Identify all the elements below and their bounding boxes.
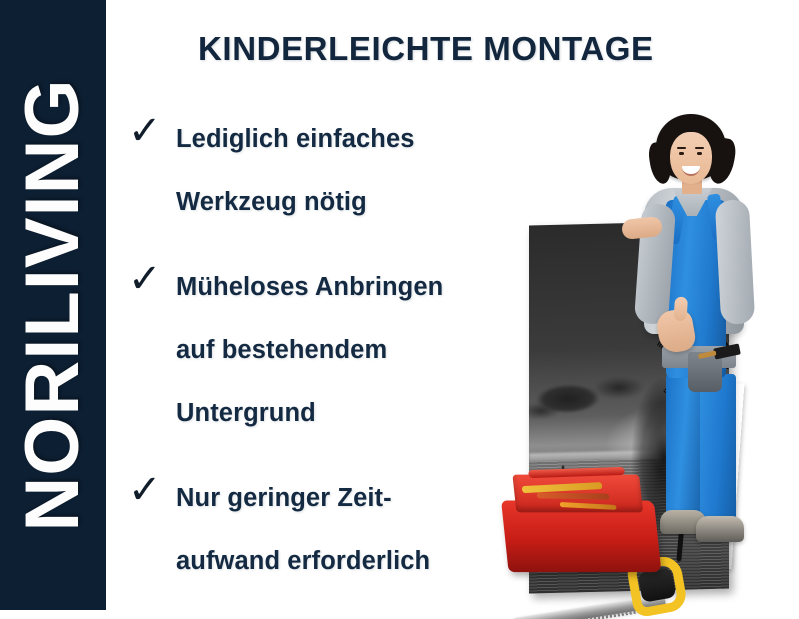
check-icon: ✓ <box>128 473 168 511</box>
product-photo <box>498 96 799 619</box>
feature-list: ✓ Lediglich einfaches Werkzeug nötig ✓ M… <box>128 108 518 615</box>
eyebrow-left <box>677 147 686 149</box>
trouser-leg-right <box>700 374 736 524</box>
list-item-line: Lediglich einfaches <box>176 108 518 171</box>
face <box>670 132 712 184</box>
list-item-line: Nur geringer Zeit- <box>176 467 518 530</box>
list-item-text: Müheloses Anbringen auf bestehendem Unte… <box>176 256 518 445</box>
list-item-text: Lediglich einfaches Werkzeug nötig <box>176 108 518 234</box>
brand-name: NORILIVING <box>15 78 91 531</box>
list-item-line: aufwand erforderlich <box>176 530 518 593</box>
list-item-line: Müheloses Anbringen <box>176 256 518 319</box>
shoe-right <box>696 516 744 542</box>
smiling-mouth <box>682 166 700 176</box>
list-item: ✓ Müheloses Anbringen auf bestehendem Un… <box>128 256 518 445</box>
eyebrow-right <box>695 147 704 149</box>
red-toolbox <box>498 456 670 592</box>
tool-wrench <box>536 492 609 499</box>
check-icon: ✓ <box>128 114 168 152</box>
check-icon: ✓ <box>128 262 168 300</box>
trouser-leg-left <box>666 374 700 518</box>
brand-sidebar: NORILIVING <box>0 0 106 610</box>
list-item-line: Werkzeug nötig <box>176 171 518 234</box>
list-item-text: Nur geringer Zeit- aufwand erforderlich <box>176 467 518 593</box>
page-title: KINDERLEICHTE MONTAGE <box>198 30 654 68</box>
eye-left <box>679 152 684 155</box>
sleeve-right <box>715 199 755 325</box>
promo-banner: NORILIVING KINDERLEICHTE MONTAGE ✓ Ledig… <box>0 0 799 619</box>
list-item: ✓ Lediglich einfaches Werkzeug nötig <box>128 108 518 234</box>
eye-right <box>697 152 702 155</box>
list-item: ✓ Nur geringer Zeit- aufwand erforderlic… <box>128 467 518 593</box>
list-item-line: auf bestehendem <box>176 319 518 382</box>
list-item-line: Untergrund <box>176 382 518 445</box>
